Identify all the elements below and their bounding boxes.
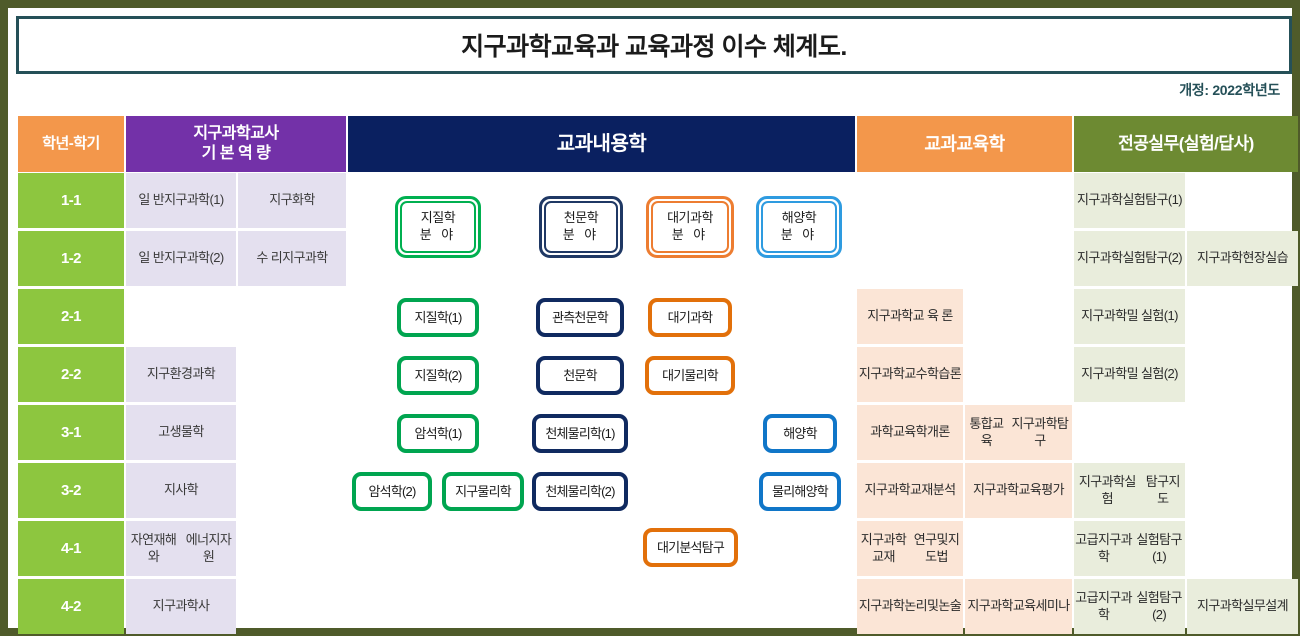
cell-line: 일 반 <box>138 192 164 209</box>
competency-cell: 일 반지구과학(2) <box>126 231 236 286</box>
competency-cell: 지구화학 <box>238 173 346 228</box>
cell-line: 지구과학(1) <box>164 192 224 209</box>
field-line1: 해양학 <box>782 210 816 227</box>
course-box: 암석학(1) <box>397 414 479 453</box>
grade-cell-3-2: 3-2 <box>18 463 124 518</box>
cell-line: 지구과학 <box>867 308 912 325</box>
competency-cell: 지구환경과학 <box>126 347 236 402</box>
competency-cell: 고생물학 <box>126 405 236 460</box>
grade-cell-2-1: 2-1 <box>18 289 124 344</box>
field-box-atmosphere: 대기과학분 야 <box>646 196 734 258</box>
field-box-ocean: 해양학분 야 <box>756 196 842 258</box>
course-label: 지구물리학 <box>455 484 511 500</box>
course-box: 천체물리학(1) <box>532 414 628 453</box>
course-box: 대기분석탐구 <box>643 528 738 567</box>
header-competency-line1: 지구과학교사 <box>193 125 278 142</box>
cell-line: 4-2 <box>61 597 81 616</box>
cell-line: 지구과학 <box>1197 250 1242 267</box>
cell-line: 과학교육학 <box>870 424 927 441</box>
cell-line: 실험탐구(2) <box>1122 250 1182 267</box>
cell-line: 지구과학교재 <box>857 532 910 565</box>
cell-line: 지구과학 <box>1077 192 1122 209</box>
field-line2: 분 야 <box>420 227 457 244</box>
competency-cell: 자연재해와에너지자원 <box>126 521 236 576</box>
practice-cell: 고급지구과학실험탐구(2) <box>1074 579 1185 634</box>
header-competency-label: 지구과학교사 기 본 역 량 <box>193 124 278 164</box>
cell-line: 지구과학 <box>1081 308 1126 325</box>
grade-cell-4-2: 4-2 <box>18 579 124 634</box>
course-label: 대기분석탐구 <box>657 540 724 556</box>
pedagogy-cell: 지구과학교재분석 <box>857 463 963 518</box>
header-content-label: 교과내용학 <box>557 132 647 157</box>
course-label: 물리해양학 <box>772 484 828 500</box>
grade-cell-1-1: 1-1 <box>18 173 124 228</box>
header-pedagogy: 교과교육학 <box>857 116 1072 172</box>
field-line2: 분 야 <box>672 227 709 244</box>
pedagogy-cell: 지구과학교육세미나 <box>965 579 1072 634</box>
course-box: 물리해양학 <box>759 472 841 511</box>
cell-line: 일 반 <box>138 250 164 267</box>
header-competency: 지구과학교사 기 본 역 량 <box>126 116 346 172</box>
course-label: 지질학(2) <box>415 368 462 384</box>
header-grade: 학년-학기 <box>18 116 124 172</box>
field-line1: 지질학 <box>421 210 455 227</box>
cell-line: 교육평가 <box>1019 482 1064 499</box>
cell-line: 에너지자원 <box>181 532 236 565</box>
cell-line: 교 육 론 <box>913 308 953 325</box>
header-practice: 전공실무(실험/답사) <box>1074 116 1298 172</box>
cell-line: 고급지구과학 <box>1074 590 1133 623</box>
header-practice-label: 전공실무(실험/답사) <box>1118 133 1254 154</box>
course-box: 천문학 <box>536 356 624 395</box>
course-label: 관측천문학 <box>552 310 608 326</box>
cell-line: 지구과학 <box>973 482 1018 499</box>
practice-cell: 지구과학밀 실험(1) <box>1074 289 1185 344</box>
cell-line: 1-1 <box>61 191 81 210</box>
course-box: 해양학 <box>763 414 837 453</box>
cell-line: 2-2 <box>61 365 81 384</box>
field-line1: 대기과학 <box>667 210 713 227</box>
practice-cell: 지구과학실험탐구지도 <box>1074 463 1185 518</box>
practice-cell: 지구과학현장실습 <box>1187 231 1298 286</box>
pedagogy-cell: 지구과학교 육 론 <box>857 289 963 344</box>
course-label: 대기물리학 <box>662 368 718 384</box>
cell-line: 개론 <box>927 424 950 441</box>
practice-cell: 지구과학실험탐구(2) <box>1074 231 1185 286</box>
course-box: 대기물리학 <box>645 356 735 395</box>
header-grade-label: 학년-학기 <box>42 135 100 154</box>
cell-line: 연구및지도법 <box>910 532 963 565</box>
cell-line: 교재분석 <box>910 482 955 499</box>
header-content: 교과내용학 <box>348 116 855 172</box>
course-label: 암석학(2) <box>369 484 416 500</box>
cell-line: 지구환경과학 <box>147 366 215 383</box>
cell-line: 지구과학탐구 <box>1008 416 1072 449</box>
pedagogy-cell: 지구과학교재연구및지도법 <box>857 521 963 576</box>
cell-line: 지구과학(2) <box>164 250 224 267</box>
cell-line: 지구과학 <box>1197 598 1242 615</box>
cell-line: 고급지구과학 <box>1074 532 1133 565</box>
cell-line: 밀 실험(2) <box>1127 366 1178 383</box>
field-line1: 천문학 <box>564 210 598 227</box>
course-box: 암석학(2) <box>352 472 432 511</box>
header-pedagogy-label: 교과교육학 <box>924 133 1004 156</box>
cell-line: 실험탐구(2) <box>1133 590 1185 623</box>
course-label: 천문학 <box>563 368 596 384</box>
practice-cell: 지구과학실험탐구(1) <box>1074 173 1185 228</box>
cell-line: 실험탐구(1) <box>1122 192 1182 209</box>
cell-line: 고생물학 <box>158 424 203 441</box>
cell-line: 지구과학 <box>859 598 904 615</box>
course-label: 지질학(1) <box>415 310 462 326</box>
cell-line: 실험탐구(1) <box>1133 532 1185 565</box>
cell-line: 지구과학실험 <box>1074 474 1141 507</box>
cell-line: 지구과학사 <box>153 598 210 615</box>
cell-line: 1-2 <box>61 249 81 268</box>
course-label: 암석학(1) <box>415 426 462 442</box>
grade-cell-2-2: 2-2 <box>18 347 124 402</box>
cell-line: 지구과학 <box>1081 366 1126 383</box>
course-label: 대기과학 <box>668 310 713 326</box>
competency-cell: 지사학 <box>126 463 236 518</box>
course-label: 천체물리학(2) <box>545 484 614 500</box>
field-line2: 분 야 <box>563 227 600 244</box>
competency-cell: 일 반지구과학(1) <box>126 173 236 228</box>
pedagogy-cell: 지구과학교육평가 <box>965 463 1072 518</box>
field-line2: 분 야 <box>781 227 818 244</box>
cell-line: 2-1 <box>61 307 81 326</box>
practice-cell: 고급지구과학실험탐구(1) <box>1074 521 1185 576</box>
cell-line: 지구과학 <box>1077 250 1122 267</box>
grade-cell-3-1: 3-1 <box>18 405 124 460</box>
competency-cell: 수 리지구과학 <box>238 231 346 286</box>
cell-line: 자연재해와 <box>126 532 181 565</box>
cell-line: 밀 실험(1) <box>1127 308 1178 325</box>
cell-line: 4-1 <box>61 539 81 558</box>
cell-line: 현장실습 <box>1243 250 1288 267</box>
course-box: 지구물리학 <box>442 472 524 511</box>
field-box-astronomy: 천문학분 야 <box>539 196 623 258</box>
cell-line: 실무설계 <box>1243 598 1288 615</box>
pedagogy-cell: 과학교육학개론 <box>857 405 963 460</box>
cell-line: 지구과학 <box>859 366 904 383</box>
header-competency-line2: 기 본 역 량 <box>202 145 271 162</box>
cell-line: 교육세미나 <box>1013 598 1070 615</box>
page-title-text: 지구과학교육과 교육과정 이수 체계도. <box>461 27 847 63</box>
grade-cell-1-2: 1-2 <box>18 231 124 286</box>
cell-line: 수 리 <box>256 250 282 267</box>
revision-note: 개정: 2022학년도 <box>1179 80 1280 100</box>
cell-line: 지사학 <box>164 482 198 499</box>
cell-line: 통합교육 <box>965 416 1008 449</box>
grade-cell-4-1: 4-1 <box>18 521 124 576</box>
cell-line: 지구과학 <box>282 250 327 267</box>
cell-line: 지구과학 <box>967 598 1012 615</box>
course-label: 천체물리학(1) <box>545 426 614 442</box>
curriculum-diagram: 지구과학교육과 교육과정 이수 체계도. 개정: 2022학년도 학년-학기 지… <box>0 0 1300 636</box>
competency-cell: 지구과학사 <box>126 579 236 634</box>
cell-line: 3-1 <box>61 423 81 442</box>
cell-line: 지구화학 <box>269 192 314 209</box>
cell-line: 지구과학 <box>865 482 910 499</box>
cell-line: 3-2 <box>61 481 81 500</box>
practice-cell: 지구과학밀 실험(2) <box>1074 347 1185 402</box>
practice-cell: 지구과학실무설계 <box>1187 579 1298 634</box>
course-box: 관측천문학 <box>536 298 624 337</box>
field-box-geology: 지질학분 야 <box>395 196 481 258</box>
course-box: 지질학(1) <box>397 298 479 337</box>
course-box: 대기과학 <box>648 298 732 337</box>
course-box: 지질학(2) <box>397 356 479 395</box>
cell-line: 논리및논술 <box>904 598 961 615</box>
pedagogy-cell: 통합교육지구과학탐구 <box>965 405 1072 460</box>
pedagogy-cell: 지구과학논리및논술 <box>857 579 963 634</box>
course-label: 해양학 <box>783 426 816 442</box>
page-title: 지구과학교육과 교육과정 이수 체계도. <box>16 16 1292 74</box>
cell-line: 탐구지도 <box>1141 474 1185 507</box>
cell-line: 교수학습론 <box>904 366 961 383</box>
course-box: 천체물리학(2) <box>532 472 628 511</box>
pedagogy-cell: 지구과학교수학습론 <box>857 347 963 402</box>
